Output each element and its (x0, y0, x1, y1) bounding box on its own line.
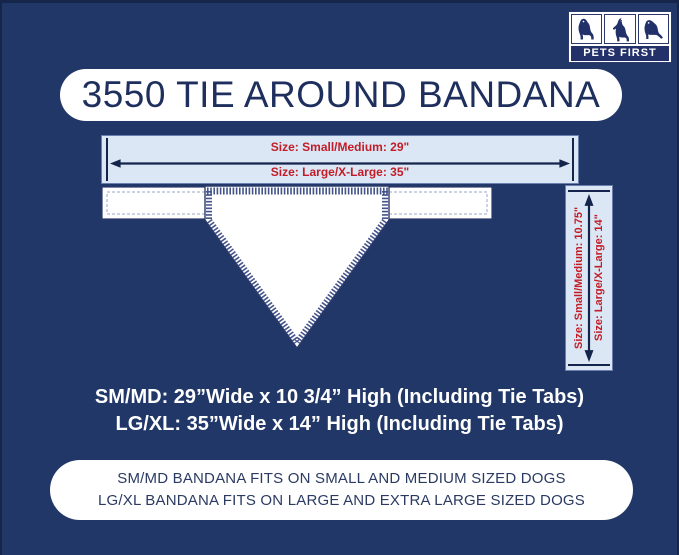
logo-wordmark: PETS FIRST (571, 46, 669, 61)
dog-silhouette-sitting-icon (571, 14, 602, 44)
logo-dog-silhouettes (571, 14, 669, 44)
specification-list: SM/MD: 29”Wide x 10 3/4” High (Including… (2, 384, 677, 438)
fit-note-large-xlarge: LG/XL BANDANA FITS ON LARGE AND EXTRA LA… (98, 490, 585, 512)
left-tie-tab (102, 187, 210, 219)
fit-guidance-banner: SM/MD BANDANA FITS ON SMALL AND MEDIUM S… (50, 460, 633, 520)
dog-silhouette-standing-icon (638, 14, 669, 44)
bandana-diagram (101, 185, 493, 355)
height-measurement-bar: Size: Small/Medium: 10.75" Size: Large/X… (565, 185, 613, 371)
dog-silhouette-begging-icon (604, 14, 635, 44)
width-measurement-bar: Size: Small/Medium: 29" Size: Large/X-La… (101, 135, 579, 184)
product-spec-image: PETS FIRST 3550 TIE AROUND BANDANA Size:… (0, 0, 679, 555)
spec-line-small-medium: SM/MD: 29”Wide x 10 3/4” High (Including… (2, 384, 677, 411)
page-title: 3550 TIE AROUND BANDANA (82, 74, 601, 116)
fit-note-small-medium: SM/MD BANDANA FITS ON SMALL AND MEDIUM S… (117, 468, 565, 490)
height-label-large-xlarge: Size: Large/X-Large: 14" (589, 186, 609, 370)
title-banner: 3550 TIE AROUND BANDANA (60, 69, 622, 121)
bandana-body (205, 186, 389, 348)
brand-logo: PETS FIRST (568, 11, 672, 63)
right-tie-tab (384, 187, 492, 219)
width-label-large-xlarge: Size: Large/X-Large: 35" (102, 165, 578, 179)
width-label-small-medium: Size: Small/Medium: 29" (102, 140, 578, 154)
spec-line-large-xlarge: LG/XL: 35”Wide x 14” High (Including Tie… (2, 411, 677, 438)
